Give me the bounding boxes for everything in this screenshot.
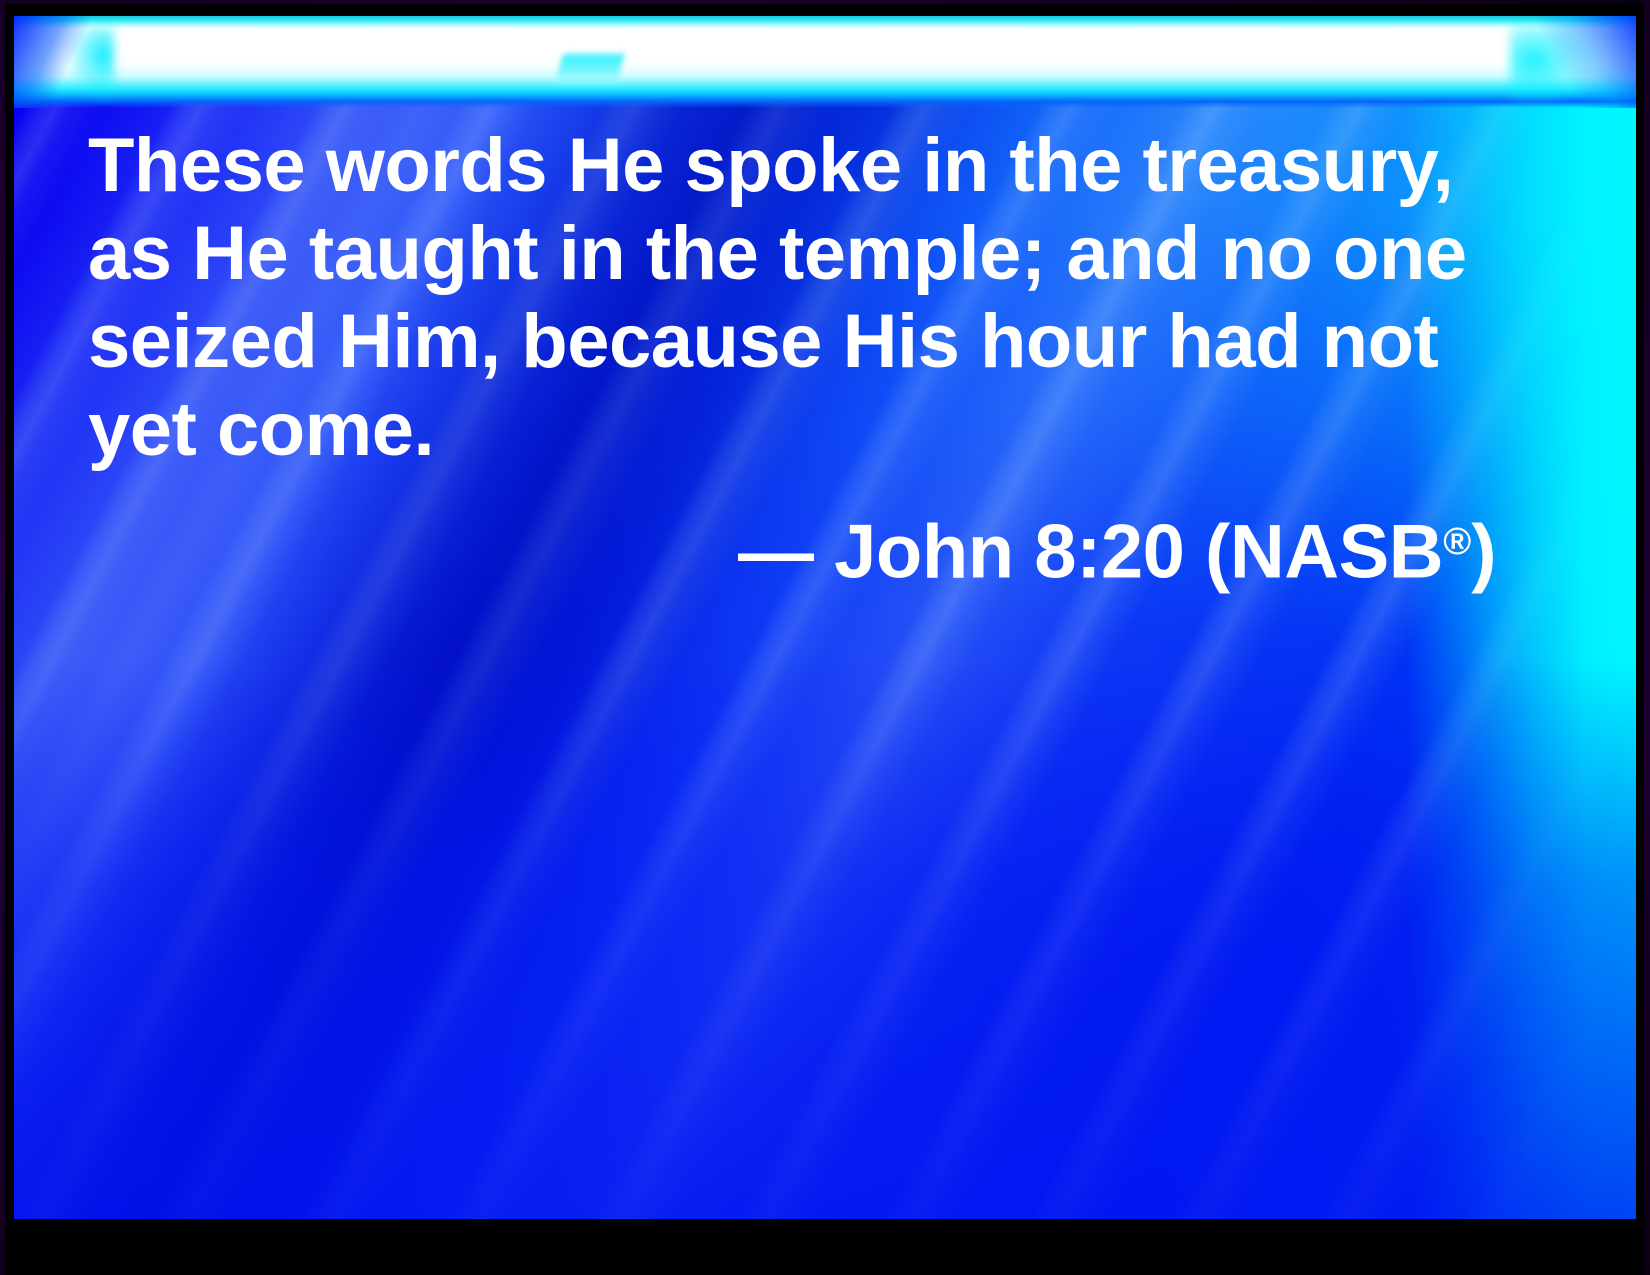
verse-body-text: These words He spoke in the treasury, as…: [88, 122, 1508, 474]
frame-hairline-left: [0, 0, 5, 1275]
attribution-translation-open: (NASB: [1205, 510, 1443, 595]
verse-slide: These words He spoke in the treasury, as…: [0, 0, 1650, 1275]
attribution-translation-close: ): [1471, 510, 1496, 595]
attribution-dash: —: [738, 510, 814, 595]
background-bottom-shade: [14, 659, 1636, 1219]
verse-attribution: — John 8:20 (NASB®): [88, 498, 1508, 597]
registered-trademark-icon: ®: [1443, 521, 1471, 563]
verse-block: These words He spoke in the treasury, as…: [88, 122, 1508, 597]
attribution-reference: John 8:20: [834, 510, 1184, 595]
slide-artboard: These words He spoke in the treasury, as…: [14, 16, 1636, 1219]
frame-hairline-right: [1644, 0, 1650, 1275]
frame-hairline-top: [0, 0, 1650, 4]
